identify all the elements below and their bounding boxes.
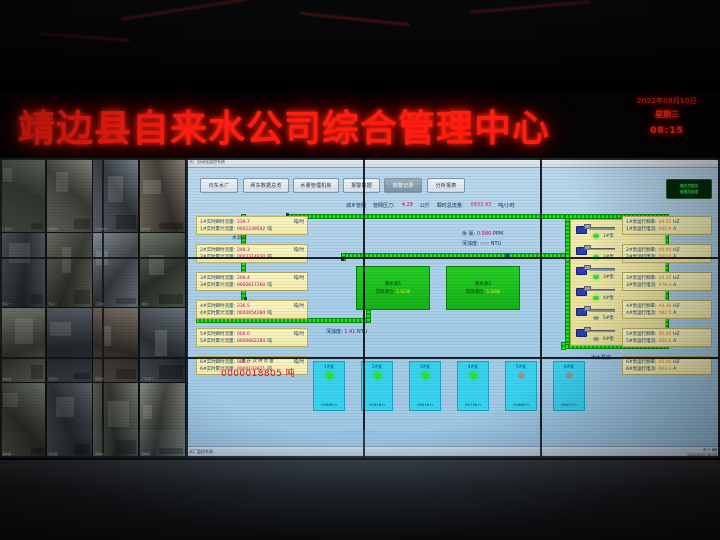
pump-card-3-freq: 3#泵运行频率:44.35HZ [626,275,708,282]
station-box-3[interactable]: 3#泵06516 h [409,361,441,411]
station-5-value: 01689 h [513,402,529,407]
station-2-value: 07818 h [369,402,385,407]
cctv-tile-label: 进水渠 [2,452,11,456]
network-header-metrics: 城乡管网 管网压力: 4.29 公斤 瞬时总流量: 0933.93 吨/小时 [346,200,626,210]
pump-card-5-current: 5#泵运行电流:000.0A [626,338,708,345]
pump-card-4: 4#泵运行频率:44.30HZ4#泵运行电流:082.5A [622,300,712,319]
station-1-value: 04586 h [321,402,337,407]
wall-bezel-seam [0,257,720,259]
cctv-tile-label: 围墙北 [95,452,104,456]
nav-button-3[interactable]: 水量管理机房 [293,178,339,193]
cctv-tile[interactable]: 泵房二 [47,233,92,307]
cctv-tile-label: 围墙南 [142,452,151,456]
pressure-unit: 公斤 [420,202,430,209]
scada-dashboard: 水厂自动化监控系统 日东水厂闸东数据总览水量管理机房报警数据报警记录分析报表 操… [186,158,720,458]
pipe-main-top [288,214,570,219]
cctv-tile-label: 沉淀池 [95,302,104,306]
pump-card-3: 3#泵运行频率:44.35HZ3#泵运行电流:078.4A [622,272,712,291]
wall-bezel-seam [363,158,365,458]
cctv-tile[interactable]: 围墙南 [140,383,185,457]
chlorine-unit: PPM [493,231,503,237]
turbidity-value: xxx [480,241,489,247]
cctv-tile-label: 厂区西门 [142,377,154,381]
flow-card-3-total: 3#实时累计流量:0002617260吨 [200,282,304,289]
cctv-tile-label: 厂区东门 [2,227,14,231]
pump-label: 5#泵 [603,315,614,321]
pump-status-indicator [593,337,599,341]
pump-status-indicator [593,296,599,300]
pump-status-indicator [593,275,599,279]
pump-icon [576,265,590,274]
cctv-mosaic: 厂区东门加氯间反冲洗间配电室泵房一泵房二沉淀池滤池清水池药剂间值班室厂区西门进水… [0,158,186,458]
chlorine-readout: 余 氯: 0.580 PPM [462,230,503,237]
flow-card-4-instant: 4#实时瞬时流量:236.5吨/时 [200,303,304,310]
clearwater-tank-1[interactable]: 清水池1 实际液位: 5.62米 [356,266,430,310]
tank-1-name: 清水池1 [385,281,402,287]
total-supply-value: 0000018805 吨 [198,366,318,379]
flow-label: 瞬时总流量: [437,202,464,209]
nav-button-5[interactable]: 报警记录 [384,178,422,193]
wall-bezel-seam [0,357,720,359]
flow-value: 0933.93 [471,202,492,208]
tank-2-name: 清水池2 [475,281,492,287]
pump-card-5: 5#泵运行频率:00.00HZ5#泵运行电流:000.0A [622,328,712,347]
pressure-value: 4.29 [402,202,413,208]
pump-card-3-current: 3#泵运行电流:078.4A [626,282,708,289]
turbidity2-label: 浑浊度: [326,329,343,335]
cctv-tile[interactable]: 值班室 [93,308,138,382]
cctv-tile[interactable]: 沉淀池 [93,233,138,307]
station-box-6[interactable]: 6#泵00027 h [553,361,585,411]
banner-date: 2022年08月10日 [618,96,716,107]
flow-card-4-total: 4#实时累计流量:0002654284吨 [200,310,304,317]
pump-icon [576,286,590,295]
pump-card-1-freq: 1#泵运行频率:44.55HZ [626,219,708,226]
station-6-indicator [566,372,573,379]
station-3-indicator [422,372,429,379]
banner-title: 靖边县自来水公司综合管理中心 [18,98,550,152]
flow-card-1-instant: 1#实时瞬时流量:239.7吨/时 [200,219,304,226]
login-line-2: 管理员权限 [680,190,698,195]
cctv-tile[interactable]: 配电室 [140,158,185,232]
cctv-tile[interactable]: 厂区东门 [0,158,45,232]
pump-label: 1#泵 [603,233,614,239]
pump-card-4-freq: 4#泵运行频率:44.30HZ [626,303,708,310]
station-6-label: 6#泵 [564,364,574,370]
station-4-value: 00738 h [465,402,481,407]
flow-card-1: 1#实时瞬时流量:239.7吨/时1#实时累计流量:0001239542吨 [196,216,308,235]
tank-2-level: 实际液位: 5.58米 [466,289,501,295]
pump-card-2-freq: 2#泵运行频率:00.00HZ [626,247,708,254]
station-4-label: 4#泵 [468,364,478,370]
station-1-label: 1#泵 [324,364,334,370]
nav-button-2[interactable]: 闸东数据总览 [243,178,289,193]
cctv-tile-label: 配电室 [142,227,151,231]
flow-card-5: 5#实时瞬时流量:000.0吨/时5#实时累计流量:0000062284吨 [196,328,308,347]
cctv-tile[interactable]: 药剂间 [47,308,92,382]
operator-login-box[interactable]: 操作员登录 管理员权限 [666,179,712,199]
pump-shaft [589,330,615,333]
cctv-tile-label: 出水渠 [49,452,58,456]
wall-bezel-seam [0,158,2,458]
cctv-tile[interactable]: 反冲洗间 [93,158,138,232]
pump-card-1-current: 1#泵运行电流:085.9A [626,226,708,233]
station-1-indicator [326,372,333,379]
flow-card-4: 4#实时瞬时流量:236.5吨/时4#实时累计流量:0002654284吨 [196,300,308,319]
room-floor [0,460,720,540]
cctv-tile-label: 泵房一 [2,302,11,306]
chlorine-value: 0.580 [477,231,491,237]
flow-card-3: 3#实时瞬时流量:209.4吨/时3#实时累计流量:0002617260吨 [196,272,308,291]
video-wall: 厂区东门加氯间反冲洗间配电室泵房一泵房二沉淀池滤池清水池药剂间值班室厂区西门进水… [0,158,720,458]
pump-card-5-freq: 5#泵运行频率:00.00HZ [626,331,708,338]
control-room-photo: 靖边县自来水公司综合管理中心 2022年08月10日 星期三 08:15 厂区东… [0,0,720,540]
pump-shaft [589,289,615,292]
nav-button-1[interactable]: 日东水厂 [200,178,238,193]
pump-label: 3#泵 [603,274,614,280]
station-5-label: 5#泵 [516,364,526,370]
banner-time: 08:15 [618,123,716,139]
clearwater-tank-2[interactable]: 清水池2 实际液位: 5.58米 [446,266,520,310]
station-3-value: 06516 h [417,402,433,407]
pump-label: 4#泵 [603,295,614,301]
cctv-tile-label: 值班室 [95,377,104,381]
cctv-tile[interactable]: 出水渠 [47,383,92,457]
flow-card-3-instant: 3#实时瞬时流量:209.4吨/时 [200,275,304,282]
pump-icon [576,245,590,254]
wall-bezel-seam [102,158,104,458]
turbidity-unit: NTU [491,241,501,247]
login-line-1: 操作员登录 [680,184,698,189]
wall-bezel-seam [0,456,720,458]
pump-status-indicator [593,316,599,320]
taskbar-app-label[interactable]: 水厂监控系统 [189,449,213,455]
turbidity2-value: 1.41 [344,329,355,335]
cctv-tile[interactable]: 清水池 [0,308,45,382]
turbidity-readout: 浑浊度: xxx NTU [462,240,501,247]
cctv-tile[interactable]: 滤池 [140,233,185,307]
cctv-tile-label: 反冲洗间 [95,227,107,231]
cctv-tile[interactable]: 加氯间 [47,158,92,232]
pump-card-6-freq: 6#泵运行频率:00.00HZ [626,359,708,366]
pump-card-6-current: 6#泵运行电流:003.1A [626,366,708,373]
flow-card-5-total: 5#实时累计流量:0000062284吨 [200,338,304,345]
cctv-tile[interactable]: 泵房一 [0,233,45,307]
flow-card-2-instant: 2#实时瞬时流量:248.3吨/时 [200,247,304,254]
chlorine-label: 余 氯: [462,231,475,237]
wall-bezel-seam [0,158,720,160]
nav-button-4[interactable]: 报警数据 [343,178,380,193]
nav-button-6[interactable]: 分析报表 [427,178,465,193]
station-3-label: 3#泵 [420,364,430,370]
tank-1-level: 实际液位: 5.62米 [376,289,411,295]
pump-icon [576,224,590,233]
pump-card-1: 1#泵运行频率:44.55HZ1#泵运行电流:085.9A [622,216,712,235]
cctv-tile-label: 药剂间 [49,377,58,381]
flow-card-2: 2#实时瞬时流量:248.3吨/时2#实时累计流量:0002314820吨 [196,244,308,263]
flow-unit: 吨/小时 [498,202,515,209]
pump-card-2: 2#泵运行频率:00.00HZ2#泵运行电流:000.0A [622,244,712,263]
turbidity-label: 浑浊度: [462,241,479,247]
cctv-tile-label: 滤池 [142,302,148,306]
pump-icon [576,306,590,315]
station-box-5[interactable]: 5#泵01689 h [505,361,537,411]
banner-clock: 2022年08月10日 星期三 08:15 [618,96,716,139]
pump-icon [576,327,590,336]
cctv-tile[interactable]: 厂区西门 [140,308,185,382]
station-box-2[interactable]: 2#泵07818 h [361,361,393,411]
station-box-4[interactable]: 4#泵00738 h [457,361,489,411]
station-6-value: 00027 h [561,402,577,407]
pump-card-4-current: 4#泵运行电流:082.5A [626,310,708,317]
cctv-tile-label: 加氯间 [49,227,58,231]
wall-bezel-seam [540,158,542,458]
total-supply: 总一次供水量 0000018805 吨 [198,358,318,379]
wall-bezel-seam [186,158,188,458]
cctv-tile[interactable]: 进水渠 [0,383,45,457]
station-4-indicator [470,372,477,379]
station-2-indicator [374,372,381,379]
cctv-tile[interactable]: 围墙北 [93,383,138,457]
pump-label: 6#泵 [603,336,614,342]
flow-card-5-instant: 5#实时瞬时流量:000.0吨/时 [200,331,304,338]
room-ceiling [0,0,720,92]
pump-shaft [589,248,615,251]
cctv-tile-label: 清水池 [2,377,11,381]
banner-weekday: 星期三 [618,107,716,123]
pump-shaft [589,268,615,271]
cctv-tile-label: 泵房二 [49,302,58,306]
pump-status-indicator [593,234,599,238]
station-5-indicator [518,372,525,379]
source-well-label: 水源井 [232,234,247,241]
station-2-label: 2#泵 [372,364,382,370]
pump-shaft [589,227,615,230]
pressure-label: 管网压力: [373,202,395,209]
turbidity2-readout: 浑浊度: 1.41 NTU [326,328,367,335]
pump-shaft [589,309,615,312]
flow-card-1-total: 1#实时累计流量:0001239542吨 [200,226,304,233]
